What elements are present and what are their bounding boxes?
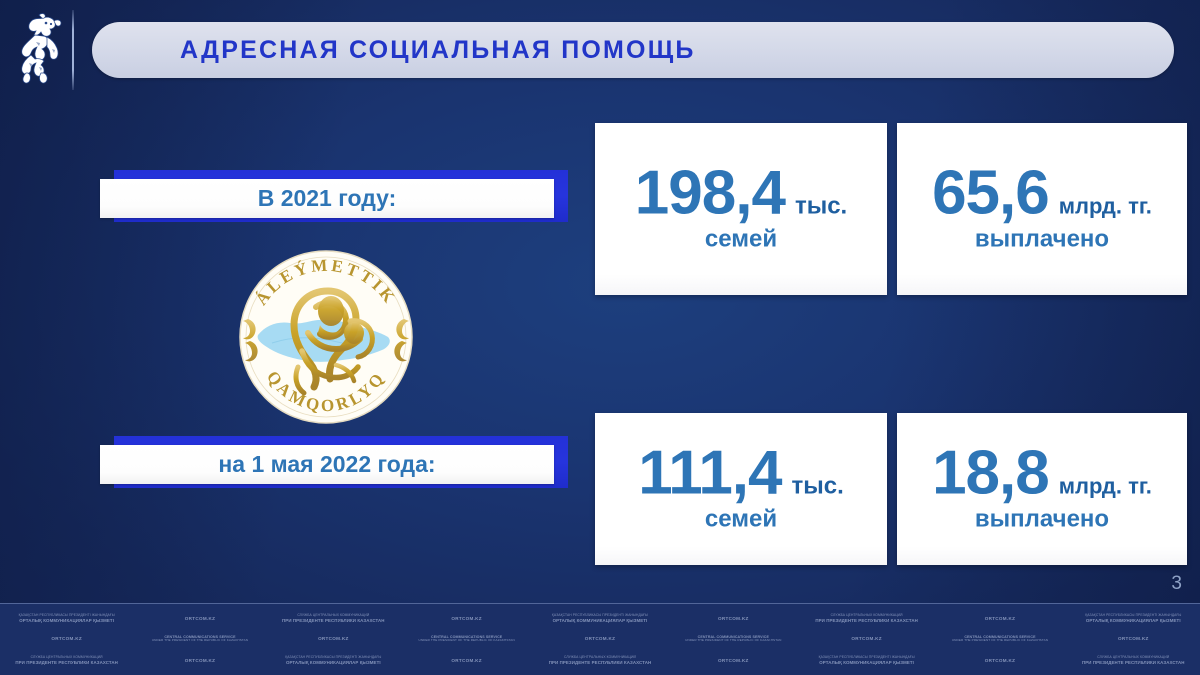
- watermark-row: СЛУЖБА ЦЕНТРАЛЬНЫХ КОММУНИКАЦИЙПРИ ПРЕЗИ…: [0, 656, 1200, 665]
- watermark-domain: ORTCOM.KZ: [1067, 636, 1200, 641]
- watermark-domain: ORTCOM.KZ: [667, 658, 800, 663]
- watermark-kk: ҚАЗАҚСТАН РЕСПУБЛИКАСЫ ПРЕЗИДЕНТІ ЖАНЫНД…: [533, 614, 666, 623]
- stat-value: 111,4: [638, 445, 781, 504]
- watermark-domain: ORTCOM.KZ: [933, 616, 1066, 621]
- stat-card-families-2022: 111,4 тыс. семей: [595, 413, 887, 565]
- snow-leopard-crest-icon: [8, 8, 66, 92]
- watermark-domain: ORTCOM.KZ: [267, 636, 400, 641]
- stat-card-families-2021: 198,4 тыс. семей: [595, 123, 887, 295]
- watermark-domain: ORTCOM.KZ: [800, 636, 933, 641]
- watermark-kk: ҚАЗАҚСТАН РЕСПУБЛИКАСЫ ПРЕЗИДЕНТІ ЖАНЫНД…: [800, 656, 933, 665]
- stat-unit: млрд. тг.: [1059, 474, 1152, 500]
- watermark-domain: ORTCOM.KZ: [667, 616, 800, 621]
- slide-canvas: АДРЕСНАЯ СОЦИАЛЬНАЯ ПОМОЩЬ В 2021 году:: [0, 0, 1200, 675]
- watermark-row: ORTCOM.KZCENTRAL COMMUNICATIONS SERVICEU…: [0, 635, 1200, 643]
- stat-subtitle: выплачено: [905, 225, 1179, 253]
- watermark-domain: ORTCOM.KZ: [0, 636, 133, 641]
- watermark-ru: СЛУЖБА ЦЕНТРАЛЬНЫХ КОММУНИКАЦИЙПРИ ПРЕЗИ…: [1067, 656, 1200, 665]
- watermark-kk: ҚАЗАҚСТАН РЕСПУБЛИКАСЫ ПРЕЗИДЕНТІ ЖАНЫНД…: [267, 656, 400, 665]
- slide-header: АДРЕСНАЯ СОЦИАЛЬНАЯ ПОМОЩЬ: [0, 0, 1200, 100]
- period-label-plate: на 1 мая 2022 года:: [100, 445, 554, 484]
- watermark-row: ҚАЗАҚСТАН РЕСПУБЛИКАСЫ ПРЕЗИДЕНТІ ЖАНЫНД…: [0, 614, 1200, 623]
- period-label-text: на 1 мая 2022 года:: [218, 451, 435, 478]
- watermark-domain: ORTCOM.KZ: [133, 616, 266, 621]
- period-label-plate: В 2021 году:: [100, 179, 554, 218]
- watermark-domain: ORTCOM.KZ: [933, 658, 1066, 663]
- stat-unit: тыс.: [795, 193, 847, 221]
- stat-value: 18,8: [932, 445, 1049, 504]
- stat-value: 65,6: [932, 165, 1049, 224]
- stat-card-paid-2021: 65,6 млрд. тг. выплачено: [897, 123, 1187, 295]
- watermark-domain: ORTCOM.KZ: [133, 658, 266, 663]
- page-number: 3: [1171, 573, 1182, 595]
- watermark-ru: СЛУЖБА ЦЕНТРАЛЬНЫХ КОММУНИКАЦИЙПРИ ПРЕЗИ…: [533, 656, 666, 665]
- stat-subtitle: семей: [603, 505, 879, 533]
- footer-watermark-band: ҚАЗАҚСТАН РЕСПУБЛИКАСЫ ПРЕЗИДЕНТІ ЖАНЫНД…: [0, 603, 1200, 675]
- page-title: АДРЕСНАЯ СОЦИАЛЬНАЯ ПОМОЩЬ: [180, 36, 696, 65]
- watermark-ru: СЛУЖБА ЦЕНТРАЛЬНЫХ КОММУНИКАЦИЙПРИ ПРЕЗИ…: [267, 614, 400, 623]
- stat-unit: млрд. тг.: [1059, 194, 1152, 220]
- stat-unit: тыс.: [792, 473, 844, 501]
- aleymettik-qamqorlyq-emblem-icon: ÁLEÝMETTIK QAMQORLYQ: [232, 247, 420, 427]
- watermark-ru: СЛУЖБА ЦЕНТРАЛЬНЫХ КОММУНИКАЦИЙПРИ ПРЕЗИ…: [0, 656, 133, 665]
- watermark-en: CENTRAL COMMUNICATIONS SERVICEUNDER THE …: [133, 635, 266, 643]
- period-label-2022: на 1 мая 2022 года:: [100, 436, 570, 492]
- watermark-domain: ORTCOM.KZ: [400, 616, 533, 621]
- watermark-kk: ҚАЗАҚСТАН РЕСПУБЛИКАСЫ ПРЕЗИДЕНТІ ЖАНЫНД…: [0, 614, 133, 623]
- header-divider: [72, 10, 74, 90]
- watermark-domain: ORTCOM.KZ: [400, 658, 533, 663]
- stat-value: 198,4: [635, 165, 785, 224]
- stat-subtitle: семей: [603, 225, 879, 253]
- stat-card-paid-2022: 18,8 млрд. тг. выплачено: [897, 413, 1187, 565]
- title-bar: АДРЕСНАЯ СОЦИАЛЬНАЯ ПОМОЩЬ: [92, 22, 1174, 78]
- period-label-text: В 2021 году:: [258, 185, 397, 212]
- period-label-2021: В 2021 году:: [100, 170, 570, 226]
- watermark-kk: ҚАЗАҚСТАН РЕСПУБЛИКАСЫ ПРЕЗИДЕНТІ ЖАНЫНД…: [1067, 614, 1200, 623]
- watermark-domain: ORTCOM.KZ: [533, 636, 666, 641]
- stat-subtitle: выплачено: [905, 505, 1179, 533]
- watermark-en: CENTRAL COMMUNICATIONS SERVICEUNDER THE …: [933, 635, 1066, 643]
- watermark-ru: СЛУЖБА ЦЕНТРАЛЬНЫХ КОММУНИКАЦИЙПРИ ПРЕЗИ…: [800, 614, 933, 623]
- watermark-en: CENTRAL COMMUNICATIONS SERVICEUNDER THE …: [400, 635, 533, 643]
- watermark-en: CENTRAL COMMUNICATIONS SERVICEUNDER THE …: [667, 635, 800, 643]
